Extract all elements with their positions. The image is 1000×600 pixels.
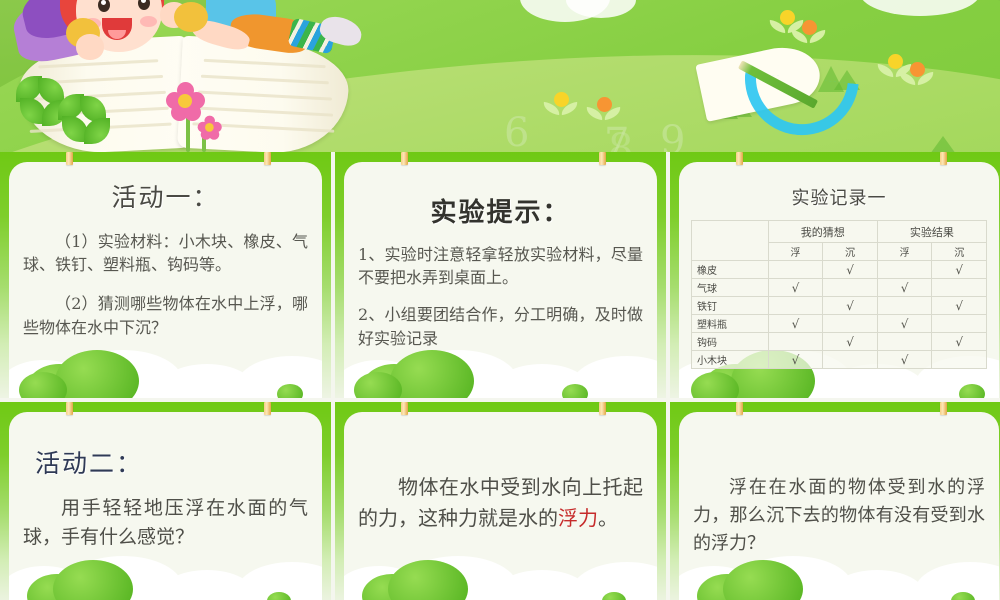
table-corner-cell	[692, 221, 769, 261]
table-head: 我的猜想 实验结果 浮 沉 浮 沉	[692, 221, 987, 261]
check-icon: √	[955, 299, 963, 313]
table-cell-empty	[932, 351, 987, 369]
table-cell-checked: √	[932, 333, 987, 351]
table-cell-empty	[823, 351, 878, 369]
table-cell-empty	[768, 297, 823, 315]
banner-number: 9	[660, 118, 685, 152]
card-sinking-question: 浮在在水面的物体受到水的浮力，那么沉下去的物体有没有受到水的浮力？	[670, 402, 1000, 600]
card-paragraph: 2、小组要团结合作，分工明确，及时做好实验记录	[344, 303, 657, 349]
pink-flower-icon	[198, 116, 223, 141]
table-cell-empty	[823, 315, 878, 333]
card-inner-activity-one: 活动一： （1）实验材料：小木块、橡皮、气球、铁钉、塑料瓶、钩码等。 （2）猜测…	[9, 162, 322, 398]
table-cell-empty	[877, 261, 932, 279]
card-inner-sinking-question: 浮在在水面的物体受到水的浮力，那么沉下去的物体有没有受到水的浮力？	[679, 412, 999, 600]
paper-clip-icon	[599, 152, 606, 165]
card-paragraph: 1、实验时注意轻拿轻放实验材料，尽量不要把水弄到桌面上。	[344, 243, 657, 289]
table-cell-checked: √	[932, 261, 987, 279]
experiment-record-table-wrap: 我的猜想 实验结果 浮 沉 浮 沉 橡皮√√气球√√铁钉√√塑料瓶√√钩码√√小…	[679, 220, 999, 369]
paper-clip-icon	[940, 152, 947, 165]
paper-clip-icon	[736, 402, 743, 415]
table-row-label: 小木块	[692, 351, 769, 369]
table-group-header-guess: 我的猜想	[768, 221, 877, 243]
card-buoyancy-definition: 物体在水中受到水向上托起的力，这种力就是水的浮力。	[335, 402, 666, 600]
card-experiment-tips: 实验提示： 1、实验时注意轻拿轻放实验材料，尽量不要把水弄到桌面上。 2、小组要…	[335, 152, 666, 398]
paper-clip-icon	[66, 402, 73, 415]
paper-clip-icon	[401, 152, 408, 165]
presentation-slide: 6 7 8 9	[0, 0, 1000, 600]
table-cell-checked: √	[877, 351, 932, 369]
definition-highlight-term: 浮力	[558, 506, 598, 530]
paper-clip-icon	[940, 402, 947, 415]
table-cell-empty	[932, 279, 987, 297]
child-hand	[76, 34, 104, 60]
table-cell-checked: √	[823, 297, 878, 315]
card-inner-buoyancy-definition: 物体在水中受到水向上托起的力，这种力就是水的浮力。	[344, 412, 657, 600]
check-icon: √	[901, 281, 909, 295]
card-activity-one: 活动一： （1）实验材料：小木块、橡皮、气球、铁钉、塑料瓶、钩码等。 （2）猜测…	[0, 152, 331, 398]
table-sub-header-float-result: 浮	[877, 243, 932, 261]
table-cell-empty	[932, 315, 987, 333]
table-cell-checked: √	[823, 261, 878, 279]
card-activity-two: 活动二： 用手轻轻地压浮在水面的气球，手有什么感觉？	[0, 402, 331, 600]
flower-icon	[901, 62, 935, 92]
card-inner-experiment-record: 实验记录一 我的猜想	[679, 162, 999, 398]
table-row-label: 气球	[692, 279, 769, 297]
banner-number: 6	[504, 110, 529, 152]
table-row-label: 橡皮	[692, 261, 769, 279]
check-icon: √	[955, 263, 963, 277]
experiment-record-table: 我的猜想 实验结果 浮 沉 浮 沉 橡皮√√气球√√铁钉√√塑料瓶√√钩码√√小…	[691, 220, 987, 369]
table-row-label: 塑料瓶	[692, 315, 769, 333]
definition-text-after: 。	[598, 506, 618, 530]
card-paragraph: 浮在在水面的物体受到水的浮力，那么沉下去的物体有没有受到水的浮力？	[679, 474, 999, 558]
header-banner-illustration: 6 7 8 9	[0, 0, 1000, 152]
child-sleeve	[174, 2, 208, 32]
paper-clip-icon	[264, 152, 271, 165]
table-group-header-row: 我的猜想 实验结果	[692, 221, 987, 243]
table-sub-header-sink-result: 沉	[932, 243, 987, 261]
paper-clip-icon	[736, 152, 743, 165]
card-inner-experiment-tips: 实验提示： 1、实验时注意轻拿轻放实验材料，尽量不要把水弄到桌面上。 2、小组要…	[344, 162, 657, 398]
table-cell-empty	[768, 261, 823, 279]
child-cheek	[140, 16, 157, 27]
table-row: 钩码√√	[692, 333, 987, 351]
card-paragraph: （2）猜测哪些物体在水中上浮，哪些物体在水中下沉？	[9, 292, 322, 338]
paper-clip-icon	[401, 402, 408, 415]
table-body: 橡皮√√气球√√铁钉√√塑料瓶√√钩码√√小木块√√	[692, 261, 987, 369]
check-icon: √	[846, 263, 854, 277]
bush-decoration	[344, 542, 657, 600]
check-icon: √	[901, 353, 909, 367]
child-illustration-front	[14, 0, 314, 88]
table-group-header-result: 实验结果	[877, 221, 986, 243]
content-card-grid: 活动一： （1）实验材料：小木块、橡皮、气球、铁钉、塑料瓶、钩码等。 （2）猜测…	[0, 152, 1000, 600]
flower-icon	[793, 20, 827, 50]
check-icon: √	[846, 299, 854, 313]
table-sub-header-sink-guess: 沉	[823, 243, 878, 261]
flower-icon	[588, 97, 622, 127]
table-cell-empty	[823, 279, 878, 297]
table-cell-empty	[877, 297, 932, 315]
table-row: 橡皮√√	[692, 261, 987, 279]
card-paragraph: （1）实验材料：小木块、橡皮、气球、铁钉、塑料瓶、钩码等。	[9, 230, 322, 276]
flower-icon	[545, 92, 579, 122]
card-title: 实验提示：	[344, 192, 657, 229]
check-icon: √	[792, 317, 800, 331]
paper-clip-icon	[599, 402, 606, 415]
table-cell-checked: √	[877, 279, 932, 297]
card-experiment-record: 实验记录一 我的猜想	[670, 152, 1000, 398]
card-title: 活动二：	[9, 444, 322, 480]
table-cell-checked: √	[823, 333, 878, 351]
table-sub-header-float-guess: 浮	[768, 243, 823, 261]
card-title: 活动一：	[9, 178, 322, 214]
table-cell-empty	[768, 333, 823, 351]
table-row: 铁钉√√	[692, 297, 987, 315]
check-icon: √	[792, 353, 800, 367]
check-icon: √	[901, 317, 909, 331]
table-row: 塑料瓶√√	[692, 315, 987, 333]
table-cell-checked: √	[877, 315, 932, 333]
table-row: 气球√√	[692, 279, 987, 297]
banner-number: 8	[608, 126, 633, 152]
paper-clip-icon	[66, 152, 73, 165]
card-title: 实验记录一	[679, 184, 999, 210]
paper-clip-icon	[264, 402, 271, 415]
card-inner-activity-two: 活动二： 用手轻轻地压浮在水面的气球，手有什么感觉？	[9, 412, 322, 600]
grass-tuft-icon	[930, 136, 956, 152]
card-paragraph: 物体在水中受到水向上托起的力，这种力就是水的浮力。	[344, 472, 657, 534]
table-cell-checked: √	[768, 351, 823, 369]
check-icon: √	[846, 335, 854, 349]
table-cell-empty	[877, 333, 932, 351]
table-row-label: 钩码	[692, 333, 769, 351]
table-cell-checked: √	[932, 297, 987, 315]
bush-decoration	[9, 336, 322, 398]
check-icon: √	[792, 281, 800, 295]
table-cell-checked: √	[768, 315, 823, 333]
card-paragraph: 用手轻轻地压浮在水面的气球，手有什么感觉？	[9, 494, 322, 551]
table-row: 小木块√√	[692, 351, 987, 369]
table-cell-checked: √	[768, 279, 823, 297]
check-icon: √	[955, 335, 963, 349]
table-row-label: 铁钉	[692, 297, 769, 315]
